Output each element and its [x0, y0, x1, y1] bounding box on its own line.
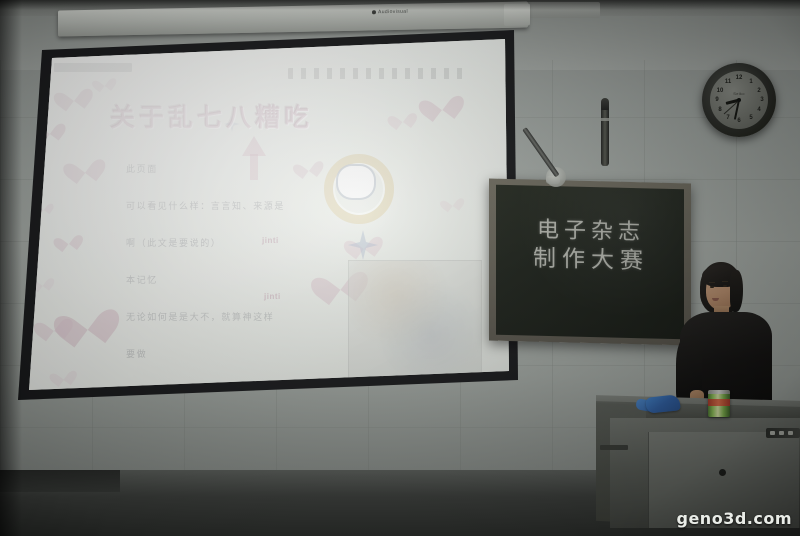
slide-body-line: 要做 [126, 343, 426, 366]
slide-body-line: 啊（此文是要说的） [126, 232, 426, 255]
heart-decor-icon [57, 229, 79, 250]
classroom-photo: Audiovisual [0, 0, 800, 536]
clock-numeral: 2 [755, 87, 763, 95]
wall-clock: Seiko 12 1 2 3 4 5 6 7 8 9 10 11 [702, 63, 776, 137]
slide-body-line: 此页面 [126, 158, 426, 181]
presenter-hair-side [730, 270, 743, 312]
heart-decor-icon [391, 107, 413, 128]
heart-decor-icon [95, 73, 113, 90]
blackboard-text: 电子杂志 制作大赛 [500, 216, 682, 278]
photo-edge-shadow-top [0, 0, 800, 10]
watermark: geno3d.com [677, 509, 793, 528]
clock-numeral: 11 [724, 78, 732, 86]
slide-body-line: 无论如何是是大不，就算神这样 [126, 306, 426, 329]
blackboard-line-1: 电子杂志 [500, 216, 682, 248]
projected-slide: jinti jinti 关于乱七八糟吃 此页面 可以看见什么样：言言知、来源是 … [18, 30, 518, 400]
presenter-eye [723, 285, 727, 287]
microphone-body [601, 104, 609, 166]
clock-numeral: 4 [755, 106, 763, 114]
slide-app-menubar [54, 63, 132, 72]
presenter-eyebrow [709, 282, 715, 283]
microphone-ring [600, 118, 610, 121]
slide-app-toolbar [288, 68, 463, 79]
green-can-top [708, 390, 730, 394]
heart-decor-icon [424, 86, 458, 118]
clock-center-pin [737, 98, 741, 102]
presenter-eye [710, 286, 714, 288]
presenter-eyebrow [722, 281, 728, 282]
green-can-label-band [708, 399, 730, 406]
microphone-tip [601, 98, 609, 110]
heart-decor-icon [58, 80, 87, 107]
brand-dot-icon [372, 10, 376, 14]
heart-decor-icon [68, 150, 99, 180]
clock-numeral: 5 [747, 114, 755, 122]
photo-edge-shadow-left [0, 0, 22, 536]
arrow-up-icon [242, 136, 266, 156]
clock-numeral: 1 [747, 78, 755, 86]
slide-title: 关于乱七八糟吃 [110, 98, 313, 134]
clock-numeral: 3 [758, 96, 766, 104]
projection-screen-surface: jinti jinti 关于乱七八糟吃 此页面 可以看见什么样：言言知、来源是 … [18, 30, 518, 400]
heart-decor-icon [38, 310, 67, 337]
blackboard-line-2: 制作大赛 [500, 243, 682, 277]
clock-numeral: 12 [735, 74, 743, 82]
podium-slot [600, 445, 628, 450]
clock-brand-label: Seiko [733, 91, 745, 96]
heart-decor-icon [443, 193, 461, 210]
clock-face: Seiko 12 1 2 3 4 5 6 7 8 9 10 11 [710, 71, 768, 129]
clock-numeral: 6 [735, 117, 743, 125]
slide-body-text: 此页面 可以看见什么样：言言知、来源是 啊（此文是要说的） 本记忆 无论如何是是… [126, 158, 426, 400]
heart-decor-icon [53, 365, 73, 384]
podium-led-indicator [788, 431, 793, 435]
clock-numeral: 10 [716, 87, 724, 95]
slide-body-line: 可以看见什么样：言言知、来源是 [126, 195, 426, 218]
clock-numeral: 9 [713, 96, 721, 104]
podium-cable-hole [719, 469, 726, 476]
podium-led-indicator [770, 431, 775, 435]
podium-led-indicator [779, 431, 784, 435]
clock-numeral: 7 [724, 114, 732, 122]
slide-body-line: 本记忆 [126, 269, 426, 292]
